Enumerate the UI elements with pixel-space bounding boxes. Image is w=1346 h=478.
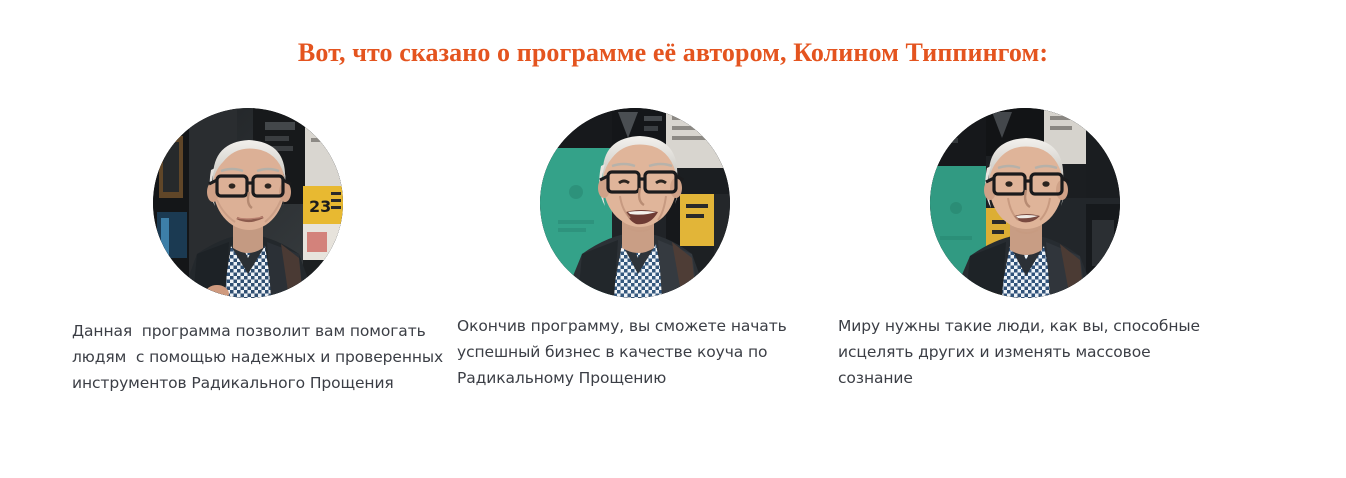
avatar: [540, 108, 730, 298]
testimonial-quote: Данная программа позволит вам помогать л…: [72, 318, 444, 396]
testimonials-row: 23: [0, 100, 1346, 440]
svg-text:23: 23: [309, 197, 331, 216]
colin-tipping-portrait-3-image: [930, 108, 1120, 298]
page-title: Вот, что сказано о программе её автором,…: [0, 38, 1346, 68]
avatar: 23: [153, 108, 343, 298]
colin-tipping-portrait-2-image: [540, 108, 730, 298]
colin-tipping-portrait-1-image: 23: [153, 108, 343, 298]
testimonial-quote: Окончив программу, вы сможете начать усп…: [457, 313, 802, 391]
testimonial-quote: Миру нужны такие люди, как вы, способные…: [838, 313, 1210, 391]
avatar: [930, 108, 1120, 298]
